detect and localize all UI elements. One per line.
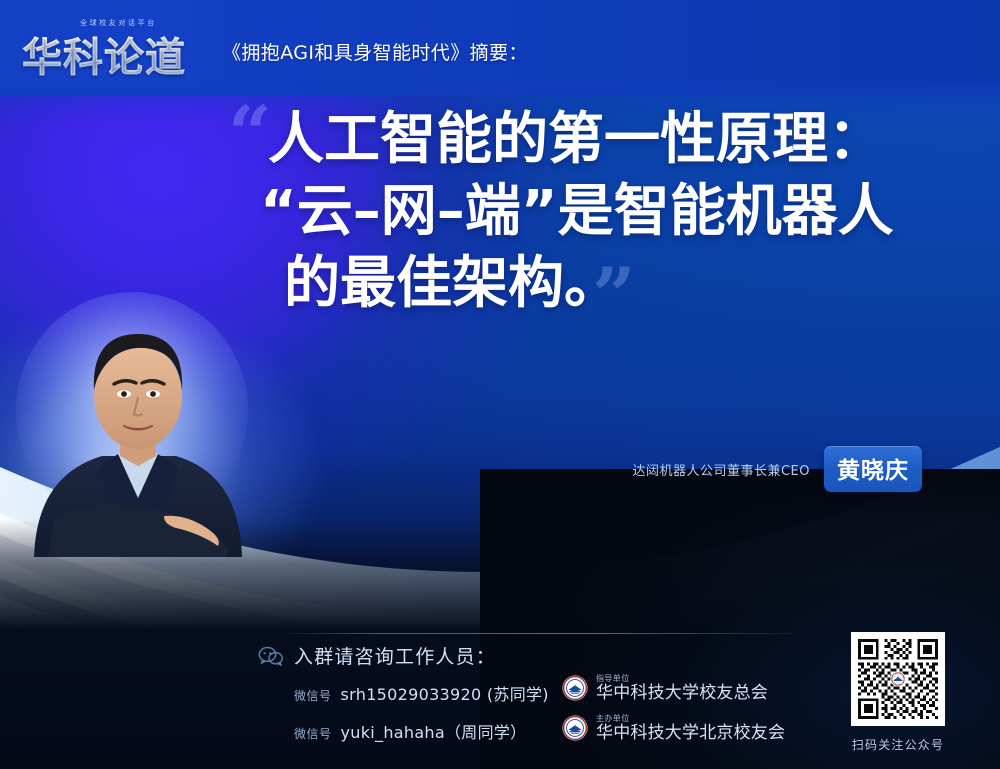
speaker-title: 达闼机器人公司董事长兼CEO [632,460,810,479]
footer-divider [286,633,792,634]
organizer-text-guidance: 指导单位 华中科技大学校友总会 [596,674,768,703]
page-title: 《拥抱AGI和具身智能时代》摘要： [222,38,528,65]
organizer-kind-host: 主办单位 [596,714,785,724]
qr-section: 扫码关注公众号 [840,632,956,753]
footer-heading: 入群请咨询工作人员： [294,642,496,669]
organizer-row-guidance: 指导单位 华中科技大学校友总会 [562,674,785,702]
contact-value-1[interactable]: srh15029033920 (苏同学) [341,681,549,705]
quote-line-3: 的最佳架构。 [284,248,968,320]
speaker-name-badge: 黄晓庆 [824,446,922,492]
quote-line-1: 人工智能的第一性原理： [268,104,968,176]
quote-line-2: “云–网–端”是智能机器人 [260,176,968,248]
logo-text: 华科论道 [22,25,186,83]
organizer-name-host: 华中科技大学北京校友会 [596,724,785,743]
qr-caption: 扫码关注公众号 [840,736,956,753]
qr-code[interactable] [851,632,945,726]
speaker-portrait [14,292,264,557]
speaker-name: 黄晓庆 [837,451,909,485]
organizer-list: 指导单位 华中科技大学校友总会 主办单位 华中科技大学北京校友会 [562,674,785,742]
organizer-name-guidance: 华中科技大学校友总会 [596,684,768,703]
brand-logo[interactable]: 全球校友对话平台 华科论道 [22,17,208,79]
wechat-icon [258,646,284,666]
footer-heading-row: 入群请咨询工作人员： [258,642,818,669]
header-bar: 全球校友对话平台 华科论道 《拥抱AGI和具身智能时代》摘要： [0,0,1000,96]
contact-label-1: 微信号 [294,687,332,704]
university-seal-icon [562,675,588,701]
speaker-credit: 达闼机器人公司董事长兼CEO 黄晓庆 [632,446,922,492]
organizer-text-host: 主办单位 华中科技大学北京校友会 [596,714,785,743]
university-seal-icon [562,715,588,741]
quote-block: 人工智能的第一性原理： “云–网–端”是智能机器人 的最佳架构。 [268,104,968,320]
quote-open-mark: “ [228,96,272,172]
contact-label-2: 微信号 [294,725,332,742]
organizer-kind-guidance: 指导单位 [596,674,768,684]
poster-root: 全球校友对话平台 华科论道 《拥抱AGI和具身智能时代》摘要： “ ” 人工智能… [0,0,1000,769]
organizer-row-host: 主办单位 华中科技大学北京校友会 [562,714,785,742]
contact-value-2[interactable]: yuki_hahaha（周同学） [341,719,527,743]
